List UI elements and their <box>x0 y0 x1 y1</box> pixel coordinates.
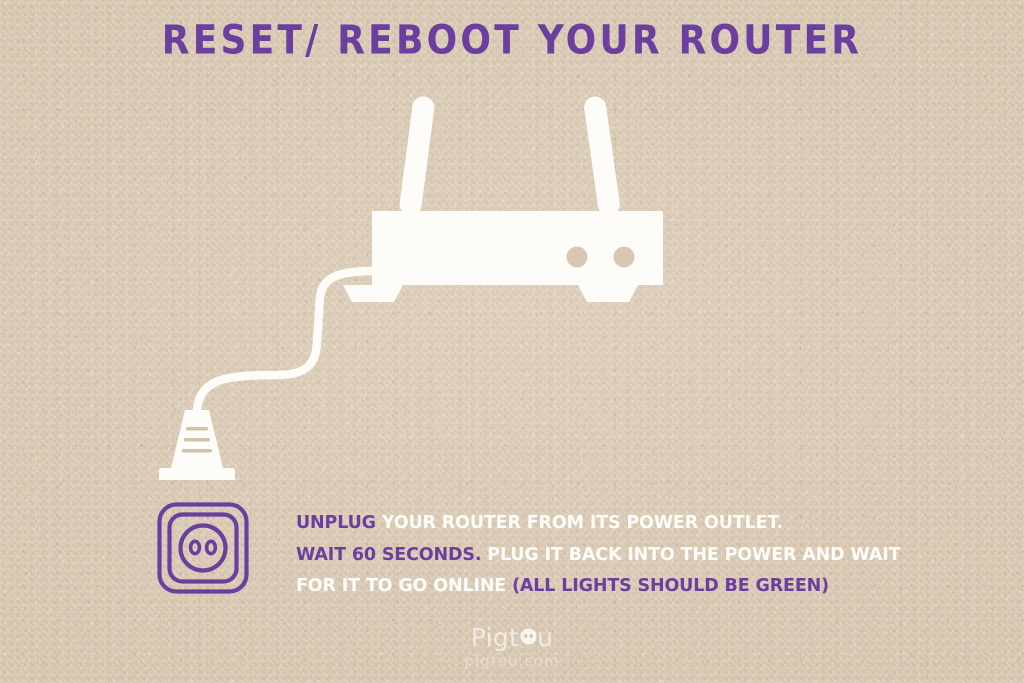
instruction-line-3-plain: FOR IT TO GO ONLINE <box>296 576 512 596</box>
instruction-line-1-accent: UNPLUG <box>296 513 376 533</box>
plug-base-icon <box>159 468 235 480</box>
outlet-hole-right <box>207 541 216 553</box>
outlet-socket-ring <box>181 526 226 571</box>
instruction-line-1-plain: YOUR ROUTER FROM ITS POWER OUTLET. <box>376 513 783 533</box>
antenna-left-icon <box>398 95 435 217</box>
router-illustration <box>140 80 700 480</box>
brand-outlet-icon <box>520 628 537 645</box>
instruction-line-2-plain: PLUG IT BACK INTO THE POWER AND WAIT <box>481 545 900 565</box>
footer-watermark: Pigt u pigtou.com <box>0 625 1024 669</box>
instruction-text: UNPLUG YOUR ROUTER FROM ITS POWER OUTLET… <box>296 508 996 603</box>
power-outlet-icon <box>155 500 251 596</box>
antenna-right-icon <box>583 95 621 217</box>
page-title: RESET/ REBOOT YOUR ROUTER <box>0 20 1024 62</box>
brand-wordmark-suffix: u <box>537 625 553 650</box>
plug-grip-line-1 <box>186 427 208 431</box>
indicator-light-1 <box>567 247 588 268</box>
instruction-line-2-accent: WAIT 60 SECONDS. <box>296 545 481 565</box>
instruction-line-1: UNPLUG YOUR ROUTER FROM ITS POWER OUTLET… <box>296 508 996 540</box>
instruction-line-2: WAIT 60 SECONDS. PLUG IT BACK INTO THE P… <box>296 540 996 572</box>
plug-grip-line-3 <box>182 449 212 453</box>
power-cable-icon <box>197 271 372 410</box>
indicator-light-2 <box>614 247 635 268</box>
brand-wordmark: Pigt u <box>471 625 554 650</box>
brand-wordmark-prefix: Pigt <box>471 625 519 650</box>
outlet-hole-left <box>191 541 200 553</box>
plug-grip-line-2 <box>184 438 210 442</box>
infographic-poster: RESET/ REBOOT YOUR ROUTER <box>0 0 1024 683</box>
brand-url: pigtou.com <box>0 654 1024 669</box>
instruction-line-3: FOR IT TO GO ONLINE (ALL LIGHTS SHOULD B… <box>296 571 996 603</box>
instruction-line-3-accent: (ALL LIGHTS SHOULD BE GREEN) <box>512 576 829 596</box>
